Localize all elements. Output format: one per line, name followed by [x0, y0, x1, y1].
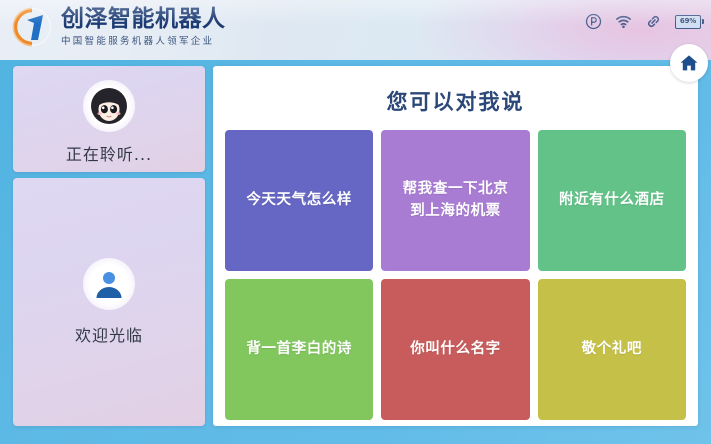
status-bar: 69%	[585, 13, 701, 30]
suggestion-tile-salute[interactable]: 敬个礼吧	[538, 279, 686, 420]
app-header: 创泽智能机器人 中国智能服务机器人领军企业	[0, 0, 711, 60]
user-person-icon	[92, 267, 126, 301]
tile-salute-label: 敬个礼吧	[582, 339, 642, 360]
battery-icon[interactable]: 69%	[675, 15, 701, 29]
tile-poem-label: 背一首李白的诗	[246, 339, 352, 360]
suggestions-card: 您可以对我说 今天天气怎么样 帮我查一下北京到上海的机票 附近有什么酒店 背一首…	[213, 66, 698, 426]
brand-text: 创泽智能机器人 中国智能服务机器人领军企业	[61, 6, 226, 47]
suggestion-tile-name[interactable]: 你叫什么名字	[381, 279, 529, 420]
home-icon	[679, 53, 699, 73]
tile-hotel-label: 附近有什么酒店	[559, 190, 665, 211]
sidebar-item-welcome[interactable]: 欢迎光临	[13, 178, 205, 426]
brand-title: 创泽智能机器人	[61, 7, 226, 31]
sidebar-item-listening[interactable]: 正在聆听...	[13, 66, 205, 172]
home-button[interactable]	[670, 44, 708, 82]
suggestion-tile-poem[interactable]: 背一首李白的诗	[225, 279, 373, 420]
sidebar-item-welcome-label: 欢迎光临	[75, 322, 143, 346]
suggestion-tile-flight[interactable]: 帮我查一下北京到上海的机票	[381, 130, 529, 271]
avatar	[83, 80, 135, 132]
tile-flight-label: 帮我查一下北京到上海的机票	[403, 179, 509, 221]
brand-subtitle: 中国智能服务机器人领军企业	[61, 33, 226, 47]
battery-level-label: 69%	[680, 18, 696, 25]
robot-kiosk-screen: 创泽智能机器人 中国智能服务机器人领军企业	[0, 0, 711, 444]
tile-name-label: 你叫什么名字	[410, 339, 501, 360]
wifi-icon[interactable]	[615, 13, 632, 30]
suggestion-tile-hotel[interactable]: 附近有什么酒店	[538, 130, 686, 271]
sidebar: 正在聆听... 欢迎光临	[13, 66, 205, 426]
brand-logo: 创泽智能机器人 中国智能服务机器人领军企业	[12, 6, 226, 47]
parking-p-icon[interactable]	[585, 13, 602, 30]
page-title: 您可以对我说	[213, 66, 698, 116]
creative-swoosh-logo-icon	[12, 7, 52, 47]
suggestion-tile-weather[interactable]: 今天天气怎么样	[225, 130, 373, 271]
user-avatar	[83, 258, 135, 310]
robot-face-avatar-icon	[88, 85, 130, 127]
link-chain-icon[interactable]	[645, 13, 662, 30]
suggestion-tile-grid: 今天天气怎么样 帮我查一下北京到上海的机票 附近有什么酒店 背一首李白的诗 你叫…	[213, 116, 698, 432]
sidebar-item-listening-label: 正在聆听...	[66, 141, 152, 165]
tile-weather-label: 今天天气怎么样	[246, 190, 352, 211]
